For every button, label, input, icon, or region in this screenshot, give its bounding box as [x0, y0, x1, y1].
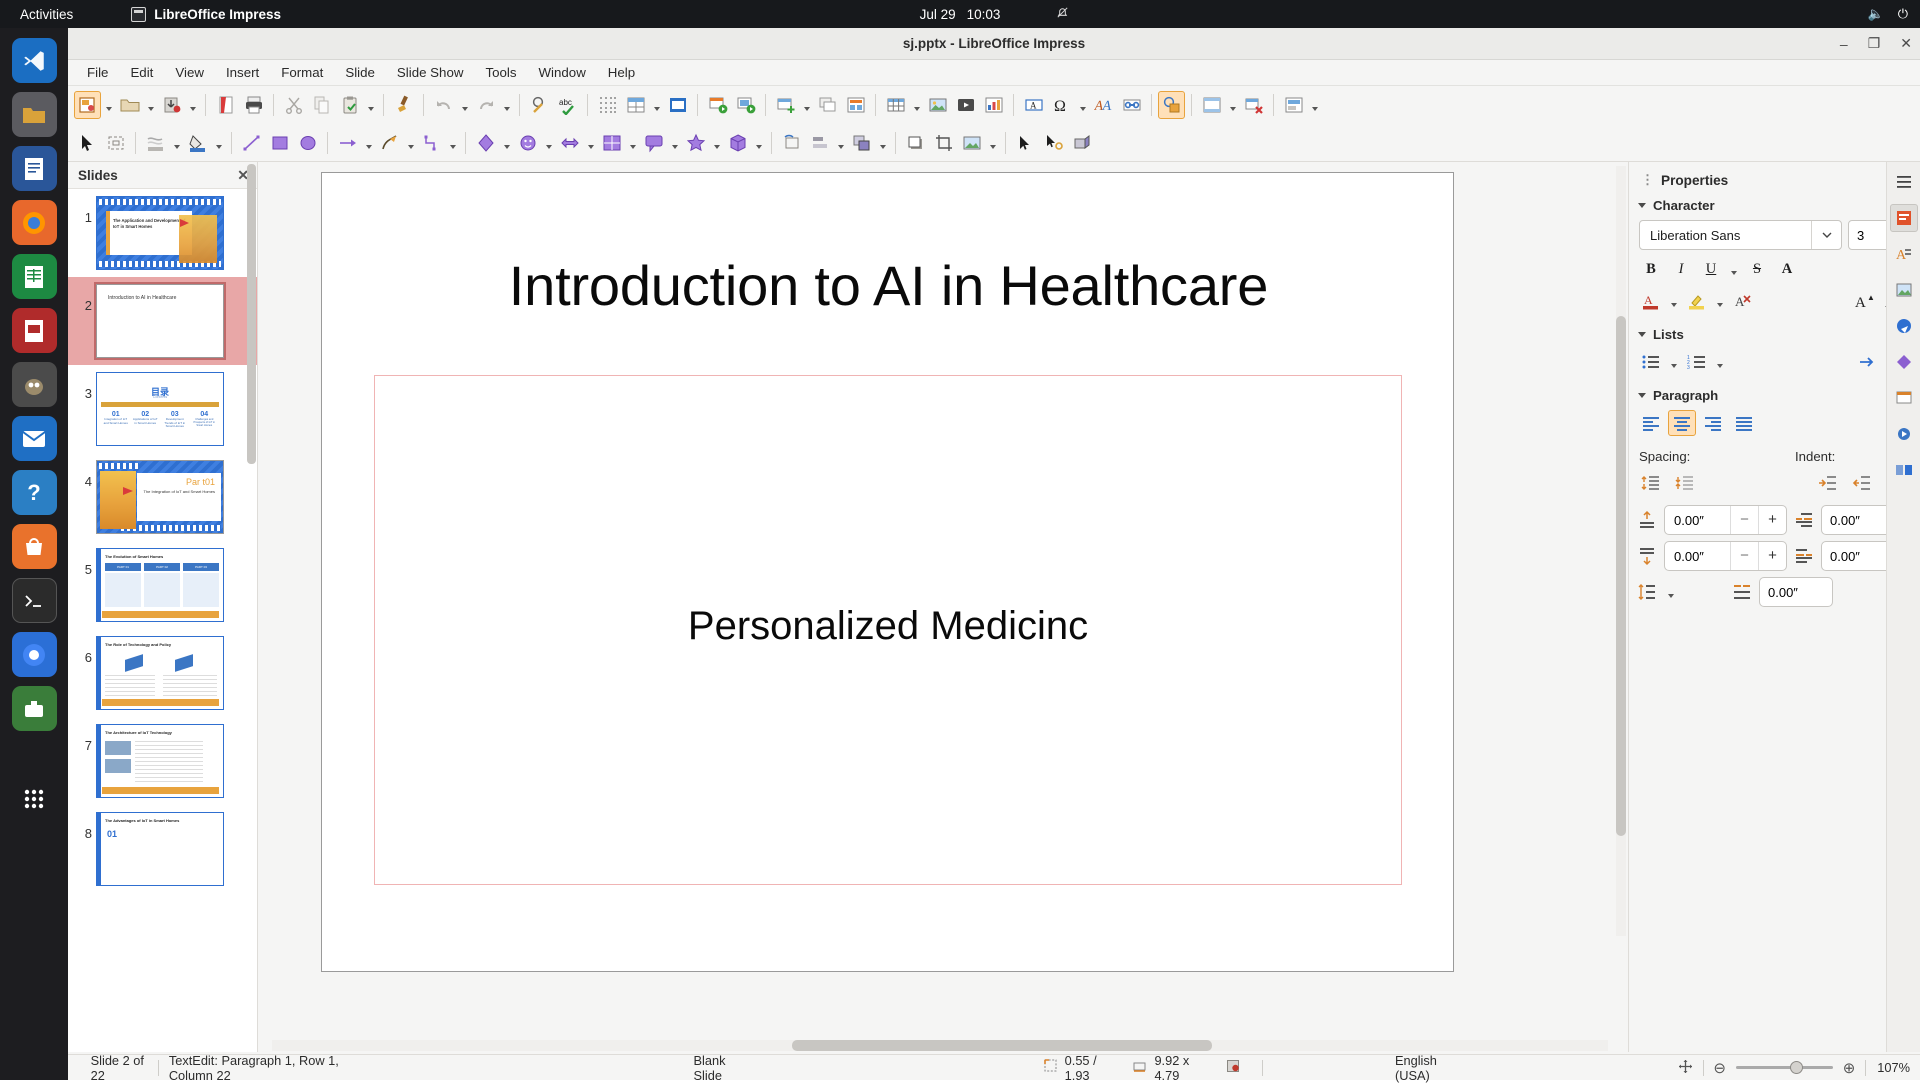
- decrease-paragraph-spacing-button[interactable]: [1671, 470, 1699, 496]
- zoom-slider-knob[interactable]: [1790, 1061, 1803, 1074]
- thumb-accent-bar: [106, 211, 110, 255]
- insert-fontwork-button[interactable]: A A: [1090, 91, 1117, 119]
- fill-color-dropdown[interactable]: [212, 129, 225, 157]
- font-name-value: Liberation Sans: [1650, 228, 1740, 243]
- thumb-card-label: PART 01: [105, 563, 141, 571]
- highlight-icon: [1687, 291, 1707, 311]
- flowchart-icon: [602, 133, 622, 153]
- vertical-scrollbar[interactable]: [1616, 166, 1626, 936]
- dock-item-impress[interactable]: [12, 308, 57, 353]
- chevron-down-icon[interactable]: [1811, 221, 1841, 249]
- spelling-button[interactable]: abc: [554, 91, 581, 119]
- line-color-icon: [146, 133, 166, 153]
- thumb-toc-item: 02 Applications of IoT in Smart Homes: [132, 411, 158, 429]
- slide-title-textbox[interactable]: Introduction to AI in Healthcare: [397, 253, 1380, 318]
- character-section-header[interactable]: Character: [1629, 194, 1920, 217]
- display-views-button[interactable]: [622, 91, 649, 119]
- show-draw-functions-button[interactable]: [1158, 91, 1185, 119]
- increase-paragraph-spacing-button[interactable]: [1637, 470, 1665, 496]
- first-line-indent-input[interactable]: 0.00″: [1759, 577, 1833, 607]
- show-apps-icon: [23, 788, 45, 810]
- lists-section-header[interactable]: Lists: [1629, 323, 1920, 346]
- thumb-text-block: [105, 675, 155, 699]
- list-item[interactable]: 4 Par t01 The Integration of IoT and Sma…: [68, 453, 257, 541]
- sidebar-tab-slide-transition[interactable]: [1890, 456, 1918, 484]
- thumb-text-block: [135, 741, 203, 785]
- grid-icon: [598, 95, 618, 115]
- clock-date: Jul 29: [920, 7, 956, 22]
- menu-help[interactable]: Help: [597, 62, 646, 83]
- open-file-dropdown[interactable]: [144, 91, 157, 119]
- align-right-button[interactable]: [1699, 410, 1727, 436]
- slide-thumbnail[interactable]: The Architecture of IoT Technology: [96, 724, 224, 798]
- thumb-card-label: PART 02: [144, 563, 180, 571]
- ellipse-button[interactable]: [294, 129, 321, 157]
- menu-insert[interactable]: Insert: [215, 62, 270, 83]
- indent-after-value: 0.00″: [1822, 549, 1860, 564]
- zoom-slider[interactable]: [1736, 1066, 1833, 1069]
- toolbar-separator: [327, 132, 328, 154]
- list-item[interactable]: 6 The Role of Technology and Policy: [68, 629, 257, 717]
- decrease-indent-button[interactable]: [1848, 470, 1876, 496]
- find-replace-icon: [530, 95, 550, 115]
- symbol-shapes-dropdown[interactable]: [542, 129, 555, 157]
- font-color-button[interactable]: A: [1637, 288, 1665, 314]
- align-center-icon: [1672, 413, 1692, 433]
- thumb-image: [105, 759, 131, 773]
- indent-after-input[interactable]: 0.00″: [1821, 541, 1895, 571]
- insert-table-dropdown[interactable]: [910, 91, 923, 119]
- filter-dropdown[interactable]: [986, 129, 999, 157]
- display-views-dropdown[interactable]: [650, 91, 663, 119]
- slide-thumbnail[interactable]: The Evolution of Smart Homes PART 01 PAR…: [96, 548, 224, 622]
- spacing-label: Spacing:: [1639, 449, 1789, 464]
- lines-and-arrows-button[interactable]: [334, 129, 361, 157]
- block-arrows-button[interactable]: [556, 129, 583, 157]
- align-justify-button[interactable]: [1730, 410, 1758, 436]
- ordered-list-icon: 123: [1687, 352, 1707, 372]
- ordered-list-button[interactable]: 123: [1683, 349, 1711, 375]
- lists-row: 123: [1629, 346, 1920, 378]
- menu-tools[interactable]: Tools: [474, 62, 527, 83]
- horizontal-scrollbar-thumb[interactable]: [792, 1040, 1212, 1051]
- sidebar-tab-styles[interactable]: A: [1890, 240, 1918, 268]
- insert-header-footer-button[interactable]: [1198, 91, 1225, 119]
- glue-points-button[interactable]: [1040, 129, 1067, 157]
- unordered-list-icon: [1641, 352, 1661, 372]
- menu-file[interactable]: File: [76, 62, 119, 83]
- activities-button[interactable]: Activities: [6, 7, 87, 22]
- status-layout: Blank Slide: [694, 1053, 746, 1083]
- connector-icon: [422, 133, 442, 153]
- fill-color-button[interactable]: [184, 129, 211, 157]
- paragraph-section-label: Paragraph: [1653, 388, 1718, 403]
- window-controls[interactable]: – ❐ ✕: [1840, 35, 1912, 52]
- align-center-button[interactable]: [1668, 410, 1696, 436]
- line-color-button[interactable]: [142, 129, 169, 157]
- dock-item-chrome[interactable]: [12, 632, 57, 677]
- slides-panel-header: Slides ✕: [68, 162, 257, 188]
- 3d-objects-button[interactable]: [724, 129, 751, 157]
- save-state-svg: [1226, 1059, 1240, 1073]
- toggle-extrusion-button[interactable]: [1068, 129, 1095, 157]
- navigator-icon: [1895, 317, 1913, 335]
- list-item[interactable]: 1 The Application and Development of IoT…: [68, 189, 257, 277]
- slide-thumbnail[interactable]: The Advantages of IoT in Smart Homes 01: [96, 812, 224, 886]
- points-icon: [1016, 133, 1036, 153]
- svg-text:abc: abc: [559, 98, 572, 107]
- space-below-icon: [1637, 546, 1657, 566]
- thumb-tag-shape: [175, 654, 193, 672]
- dock-item-writer[interactable]: [12, 146, 57, 191]
- toolbar-separator: [587, 94, 588, 116]
- cut-button[interactable]: [280, 91, 307, 119]
- line-spacing-row: 0.00″: [1629, 574, 1920, 610]
- thumb-footer-bar: [102, 787, 219, 794]
- line-spacing-dropdown[interactable]: [1664, 579, 1678, 605]
- fontwork-icon: A A: [1094, 95, 1114, 115]
- thumb-toc-item: 03 Development Trends of IoT in Smart Ho…: [162, 411, 188, 429]
- space-below-input[interactable]: 0.00″ − +: [1664, 541, 1787, 571]
- align-left-icon: [1641, 413, 1661, 433]
- underline-button[interactable]: U: [1697, 256, 1725, 282]
- dock-item-gimp[interactable]: [12, 362, 57, 407]
- svg-text:A: A: [1644, 293, 1653, 307]
- align-left-button[interactable]: [1637, 410, 1665, 436]
- block-arrow-icon: [560, 133, 580, 153]
- menu-format[interactable]: Format: [270, 62, 334, 83]
- increase-font-size-button[interactable]: A ▲: [1852, 288, 1880, 314]
- pdf-icon: [216, 95, 236, 115]
- slide-thumbnail[interactable]: 目录 Contents 01 Integration of IoT and Sm…: [96, 372, 224, 446]
- list-item[interactable]: 3 目录 Contents 01 Integration of IoT and …: [68, 365, 257, 453]
- line-color-dropdown[interactable]: [170, 129, 183, 157]
- redo-dropdown[interactable]: [500, 91, 513, 119]
- dock-item-calc[interactable]: [12, 254, 57, 299]
- sidebar-menu-icon: [1895, 173, 1913, 191]
- zoom-tool-button[interactable]: [102, 129, 129, 157]
- align-justify-icon: [1734, 413, 1754, 433]
- slides-panel-scrollbar[interactable]: [247, 164, 256, 464]
- basic-shapes-dropdown[interactable]: [500, 129, 513, 157]
- dock-item-firefox[interactable]: [12, 200, 57, 245]
- slide-properties-button[interactable]: [1280, 91, 1307, 119]
- slide-thumbnail[interactable]: Par t01 The Integration of IoT and Smart…: [96, 460, 224, 534]
- canvas-wrapper: Introduction to AI in Healthcare Persona…: [258, 162, 1628, 1052]
- character-section-label: Character: [1653, 198, 1715, 213]
- copy-icon: [312, 95, 332, 115]
- find-replace-button[interactable]: [526, 91, 553, 119]
- slide-body-placeholder[interactable]: Personalized Medicinc: [374, 375, 1402, 885]
- print-button[interactable]: [240, 91, 267, 119]
- crop-image-button[interactable]: [930, 129, 957, 157]
- gnome-top-bar: Activities LibreOffice Impress Jul 29 10…: [0, 0, 1920, 28]
- insert-audio-video-button[interactable]: [952, 91, 979, 119]
- space-above-icon: [1637, 510, 1657, 530]
- connectors-dropdown[interactable]: [446, 129, 459, 157]
- curves-and-polygons-button[interactable]: [376, 129, 403, 157]
- maximize-button[interactable]: ❐: [1868, 35, 1881, 52]
- dock-item-ubuntu-software[interactable]: [12, 524, 57, 569]
- arrange-dropdown[interactable]: [876, 129, 889, 157]
- clear-formatting-button[interactable]: A: [1729, 288, 1757, 314]
- alignment-row: [1629, 407, 1920, 439]
- dock-item-files[interactable]: [12, 92, 57, 137]
- slide-canvas[interactable]: Introduction to AI in Healthcare Persona…: [321, 172, 1454, 972]
- slide-thumbnail[interactable]: Introduction to AI in Healthcare: [96, 284, 224, 358]
- open-file-button[interactable]: [116, 91, 143, 119]
- line-spacing-icon: [1637, 582, 1657, 602]
- zoom-level[interactable]: 107%: [1876, 1060, 1920, 1075]
- slide-layout-button[interactable]: [842, 91, 869, 119]
- slide-number: 5: [68, 548, 92, 577]
- decrease-indent-icon: [1852, 473, 1872, 493]
- power-menu-icon[interactable]: ⏻: [1898, 6, 1908, 22]
- master-slide-button[interactable]: [664, 91, 691, 119]
- header-footer-dropdown[interactable]: [1226, 91, 1239, 119]
- status-language[interactable]: English (USA): [1395, 1053, 1460, 1083]
- list-item[interactable]: 2 Introduction to AI in Healthcare: [68, 277, 257, 365]
- slide-properties-dropdown[interactable]: [1308, 91, 1321, 119]
- active-app-label: LibreOffice Impress: [154, 7, 281, 22]
- start-from-current-slide-button[interactable]: [732, 91, 759, 119]
- slides-list[interactable]: 1 The Application and Development of IoT…: [68, 188, 257, 1052]
- stars-and-banners-button[interactable]: [682, 129, 709, 157]
- italic-button[interactable]: I: [1667, 256, 1695, 282]
- sidebar-tab-rail: A: [1886, 162, 1920, 1052]
- export-pdf-button[interactable]: [212, 91, 239, 119]
- shadow-button[interactable]: A: [1773, 256, 1801, 282]
- status-object-size: 9.92 x 4.79: [1154, 1053, 1205, 1083]
- dock-item-thunderbird[interactable]: [12, 416, 57, 461]
- sidebar-tab-properties[interactable]: [1890, 204, 1918, 232]
- dock-item-show-applications[interactable]: [12, 776, 57, 821]
- menu-slide-show[interactable]: Slide Show: [386, 62, 475, 83]
- paste-dropdown[interactable]: [364, 91, 377, 119]
- unordered-list-button[interactable]: [1637, 349, 1665, 375]
- demote-button[interactable]: [1852, 349, 1880, 375]
- 3d-objects-dropdown[interactable]: [752, 129, 765, 157]
- shadow-button[interactable]: [902, 129, 929, 157]
- list-item[interactable]: 7 The Architecture of IoT Technology: [68, 717, 257, 805]
- align-objects-button[interactable]: [806, 129, 833, 157]
- block-arrows-dropdown[interactable]: [584, 129, 597, 157]
- horizontal-scrollbar[interactable]: [272, 1040, 1608, 1051]
- insert-hyperlink-button[interactable]: [1118, 91, 1145, 119]
- slide-thumbnail[interactable]: The Role of Technology and Policy: [96, 636, 224, 710]
- clock[interactable]: Jul 29 10:03: [920, 7, 1001, 22]
- minimize-button[interactable]: –: [1840, 36, 1848, 52]
- vertical-scrollbar-thumb[interactable]: [1616, 316, 1626, 836]
- chevron-down-icon: [1637, 330, 1647, 340]
- insert-special-character-button[interactable]: Ω: [1048, 91, 1075, 119]
- system-tray[interactable]: 🔈 ⏻: [1868, 6, 1908, 22]
- points-button[interactable]: [1012, 129, 1039, 157]
- list-item[interactable]: 5 The Evolution of Smart Homes PART 01 P…: [68, 541, 257, 629]
- align-objects-dropdown[interactable]: [834, 129, 847, 157]
- object-size-icon: [1133, 1059, 1147, 1076]
- crop-icon: [934, 133, 954, 153]
- display-grid-button[interactable]: [594, 91, 621, 119]
- slide-number: 1: [68, 196, 92, 225]
- increase-indent-button[interactable]: [1814, 470, 1842, 496]
- sidebar-tab-shapes[interactable]: [1890, 348, 1918, 376]
- bold-button[interactable]: B: [1637, 256, 1665, 282]
- status-separator: [1703, 1060, 1704, 1076]
- sidebar-grip-icon[interactable]: ⋮: [1641, 172, 1653, 188]
- slide-edit-area: Introduction to AI in Healthcare Persona…: [258, 162, 1628, 1052]
- volume-icon[interactable]: 🔈: [1868, 6, 1884, 22]
- fit-slide-svg: [1678, 1059, 1693, 1074]
- save-dropdown[interactable]: [186, 91, 199, 119]
- redo-button[interactable]: [472, 91, 499, 119]
- callout-shapes-button[interactable]: [640, 129, 667, 157]
- rectangle-button[interactable]: [266, 129, 293, 157]
- font-name-input[interactable]: Liberation Sans: [1639, 220, 1842, 250]
- filter-button[interactable]: [958, 129, 985, 157]
- menu-edit[interactable]: Edit: [119, 62, 164, 83]
- slide-number: 3: [68, 372, 92, 401]
- fit-slide-icon[interactable]: [1678, 1059, 1693, 1077]
- arrange-button[interactable]: [848, 129, 875, 157]
- thumb-toc-number: 04: [191, 411, 217, 418]
- basic-shapes-button[interactable]: [472, 129, 499, 157]
- thumb-cards-row: PART 01 PART 02 PART 03: [105, 563, 219, 607]
- software-store-icon: [22, 535, 46, 559]
- active-app-indicator[interactable]: LibreOffice Impress: [131, 7, 281, 22]
- callout-icon: [644, 133, 664, 153]
- save-button[interactable]: [158, 91, 185, 119]
- sidebar-settings-icon[interactable]: [1890, 168, 1918, 196]
- curves-dropdown[interactable]: [404, 129, 417, 157]
- first-line-indent-icon: [1732, 582, 1752, 602]
- insert-table-button[interactable]: [882, 91, 909, 119]
- insert-image-button[interactable]: [924, 91, 951, 119]
- zoom-out-button[interactable]: ⊖: [1713, 1059, 1726, 1077]
- bell-muted-icon[interactable]: [1055, 5, 1070, 23]
- special-character-dropdown[interactable]: [1076, 91, 1089, 119]
- dock-item-extras[interactable]: [12, 686, 57, 731]
- indent-before-input[interactable]: 0.00″: [1821, 505, 1895, 535]
- space-below-decrement[interactable]: −: [1730, 542, 1758, 570]
- unsaved-changes-icon[interactable]: [1226, 1059, 1240, 1076]
- stars-and-banners-dropdown[interactable]: [710, 129, 723, 157]
- callout-shapes-dropdown[interactable]: [668, 129, 681, 157]
- symbol-shapes-button[interactable]: [514, 129, 541, 157]
- grow-font-icon: A ▲: [1855, 291, 1877, 311]
- clone-formatting-button[interactable]: [390, 91, 417, 119]
- standard-toolbar: abc: [68, 86, 1920, 124]
- draw-functions-icon: [1162, 95, 1182, 115]
- sidebar-tab-master-slides[interactable]: [1890, 384, 1918, 412]
- insert-chart-button[interactable]: [980, 91, 1007, 119]
- shapes-icon: [1895, 353, 1913, 371]
- menu-window[interactable]: Window: [528, 62, 597, 83]
- slide-number: 2: [68, 284, 92, 313]
- slide-body-text[interactable]: Personalized Medicinc: [375, 604, 1401, 649]
- rotate-button[interactable]: [778, 129, 805, 157]
- paste-button[interactable]: [336, 91, 363, 119]
- slides-panel-title: Slides: [78, 168, 118, 183]
- delete-slide-button[interactable]: [1240, 91, 1267, 119]
- duplicate-slide-icon: [818, 95, 838, 115]
- list-item[interactable]: 8 The Advantages of IoT in Smart Homes 0…: [68, 805, 257, 893]
- select-tool-button[interactable]: [74, 129, 101, 157]
- svg-text:A: A: [1100, 98, 1113, 114]
- sidebar-tab-animation[interactable]: [1890, 420, 1918, 448]
- thumb-image: [105, 741, 131, 755]
- slide-thumbnail[interactable]: The Application and Development of IoT i…: [96, 196, 224, 270]
- insert-text-box-button[interactable]: A: [1020, 91, 1047, 119]
- font-color-dropdown[interactable]: [1667, 288, 1681, 314]
- ordered-list-dropdown[interactable]: [1713, 349, 1727, 375]
- thumb-footer-bar: [102, 611, 219, 618]
- space-below-increment[interactable]: +: [1758, 542, 1786, 570]
- space-above-input[interactable]: 0.00″ − +: [1664, 505, 1787, 535]
- thumb-title: The Architecture of IoT Technology: [105, 730, 172, 735]
- new-slide-button[interactable]: [772, 91, 799, 119]
- rotate-icon: [782, 133, 802, 153]
- highlight-color-button[interactable]: [1683, 288, 1711, 314]
- thumb-title: The Evolution of Smart Homes: [105, 554, 163, 559]
- thumb-card-label: PART 03: [183, 563, 219, 571]
- menu-slide[interactable]: Slide: [334, 62, 386, 83]
- lines-and-arrows-dropdown[interactable]: [362, 129, 375, 157]
- highlight-color-dropdown[interactable]: [1713, 288, 1727, 314]
- sidebar-tab-gallery[interactable]: [1890, 276, 1918, 304]
- unordered-list-dropdown[interactable]: [1667, 349, 1681, 375]
- space-above-increment[interactable]: +: [1758, 506, 1786, 534]
- start-from-first-slide-button[interactable]: [704, 91, 731, 119]
- paragraph-section-header[interactable]: Paragraph: [1629, 384, 1920, 407]
- new-presentation-button[interactable]: [74, 91, 101, 119]
- filter-icon: [962, 133, 982, 153]
- flowchart-dropdown[interactable]: [626, 129, 639, 157]
- toolbar-separator: [771, 132, 772, 154]
- underline-dropdown[interactable]: [1727, 256, 1741, 282]
- copy-button[interactable]: [308, 91, 335, 119]
- strikethrough-button[interactable]: S: [1743, 256, 1771, 282]
- dock-item-terminal[interactable]: [12, 578, 57, 623]
- toolbox-icon: [22, 697, 46, 721]
- impress-app-icon: [131, 7, 146, 22]
- font-color-row: A A: [1629, 285, 1920, 317]
- space-above-decrement[interactable]: −: [1730, 506, 1758, 534]
- master-slides-icon: [1895, 389, 1913, 407]
- menu-view[interactable]: View: [164, 62, 215, 83]
- zoom-in-button[interactable]: ⊕: [1843, 1059, 1856, 1077]
- shadow-icon: [906, 133, 926, 153]
- new-presentation-dropdown[interactable]: [102, 91, 115, 119]
- delete-slide-icon: [1244, 95, 1264, 115]
- dock-item-help[interactable]: ?: [12, 470, 57, 515]
- decrease-spacing-icon: [1675, 473, 1695, 493]
- flowchart-button[interactable]: [598, 129, 625, 157]
- new-slide-dropdown[interactable]: [800, 91, 813, 119]
- toolbar-separator: [1151, 94, 1152, 116]
- indent-after-icon: [1794, 546, 1814, 566]
- undo-button[interactable]: [430, 91, 457, 119]
- extrusion-icon: [1072, 133, 1092, 153]
- sidebar-tab-navigator[interactable]: [1890, 312, 1918, 340]
- duplicate-slide-button[interactable]: [814, 91, 841, 119]
- save-icon: [162, 95, 182, 115]
- dock-item-vscode[interactable]: [12, 38, 57, 83]
- insert-line-button[interactable]: [238, 129, 265, 157]
- undo-dropdown[interactable]: [458, 91, 471, 119]
- close-button[interactable]: ✕: [1900, 35, 1912, 52]
- connectors-button[interactable]: [418, 129, 445, 157]
